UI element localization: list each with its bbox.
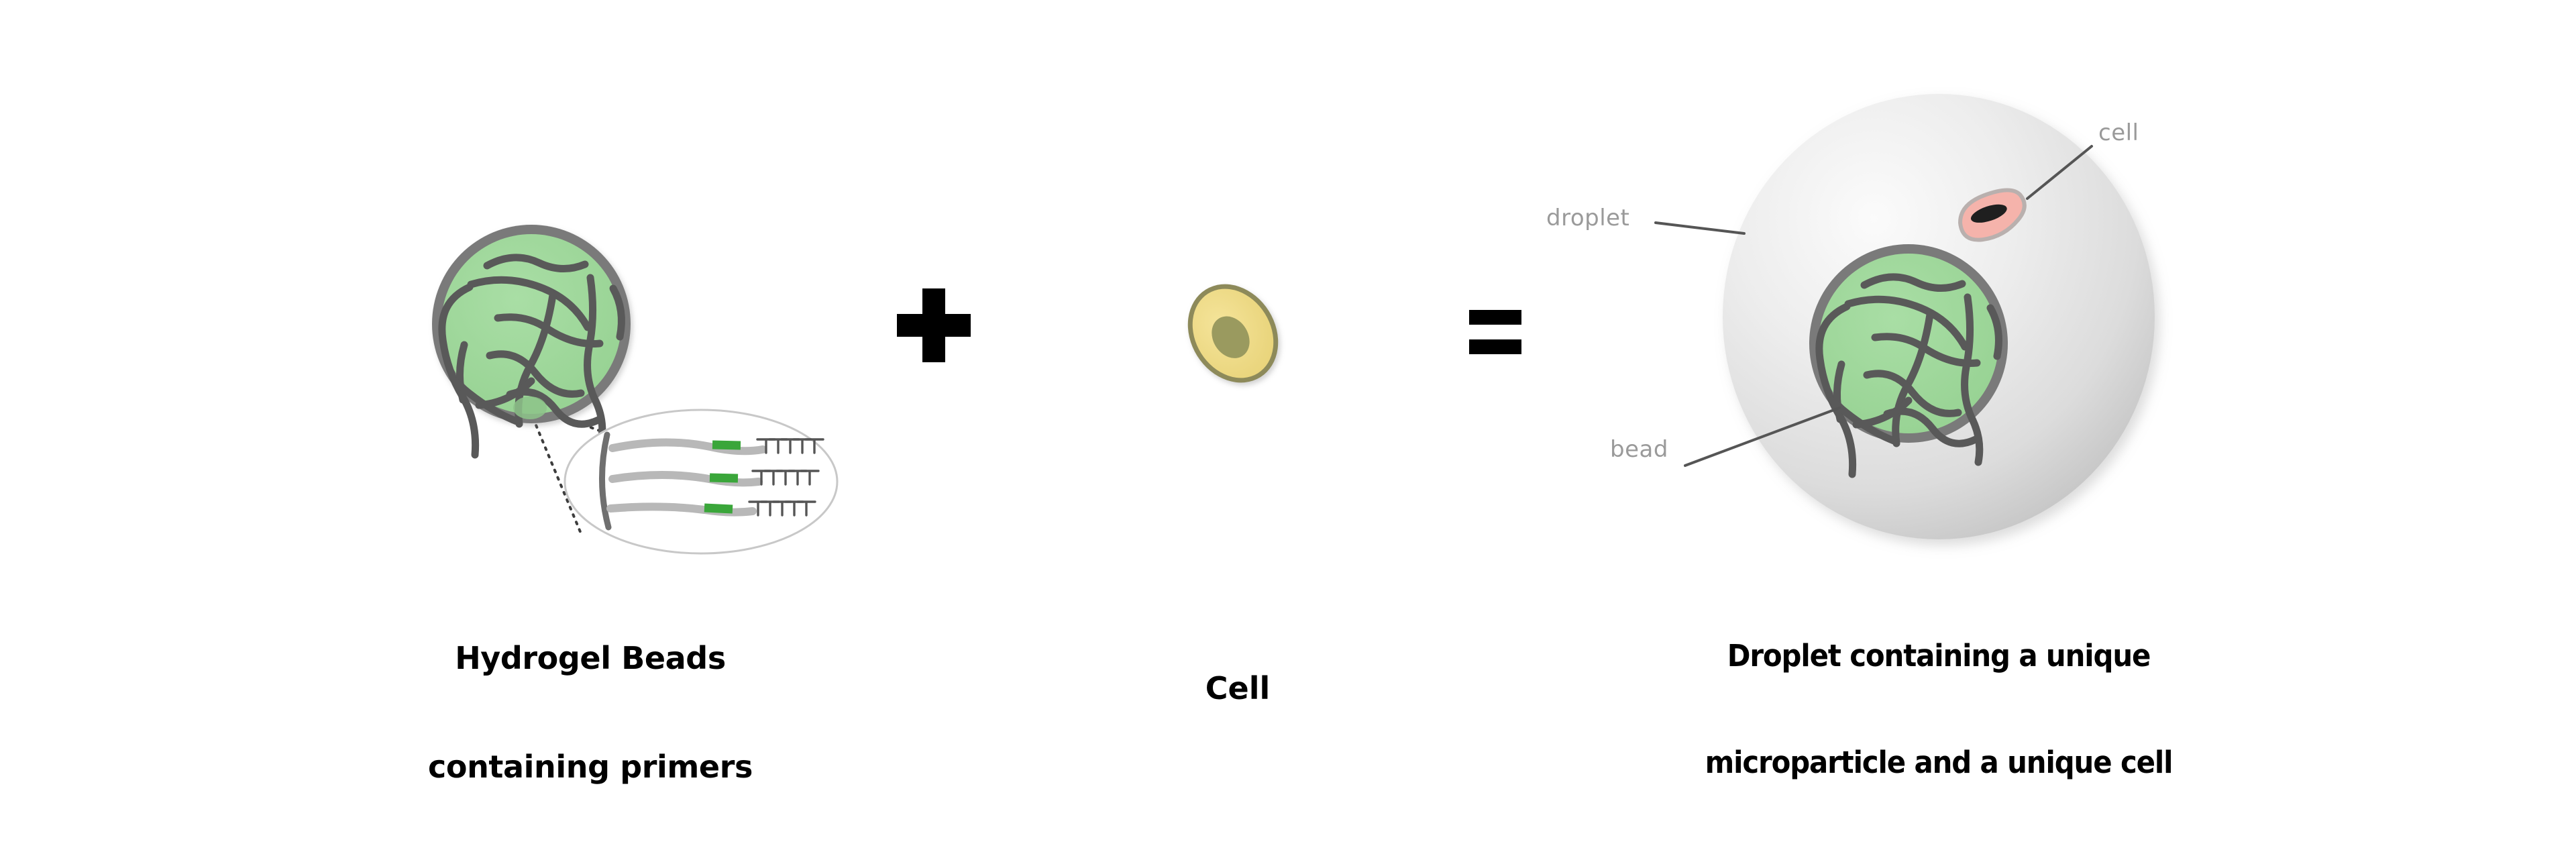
- caption-line: microparticle and a unique cell: [1621, 745, 2257, 780]
- equals-bottom-bar: [1469, 339, 1521, 354]
- poly-t-tail: [757, 439, 823, 453]
- caption-line: Cell: [1070, 670, 1405, 706]
- plus-vertical-bar: [922, 288, 945, 362]
- primer-callout: [565, 410, 837, 553]
- caption-line: containing primers: [309, 749, 872, 785]
- poly-t-tail: [753, 471, 818, 484]
- caption-line: Droplet containing a unique: [1621, 638, 2257, 674]
- callout-origin-spot: [513, 396, 547, 419]
- caption-droplet: Droplet containing a unique microparticl…: [1621, 567, 2257, 852]
- caption-hydrogel-beads: Hydrogel Beads containing primers: [309, 567, 872, 858]
- plus-operator: [897, 288, 971, 362]
- label-bead: bead: [1610, 436, 1668, 463]
- caption-cell: Cell: [1070, 597, 1405, 779]
- label-droplet: droplet: [1546, 205, 1629, 231]
- poly-t-tail: [749, 502, 815, 515]
- figure-canvas: droplet bead cell Hydrogel Beads contain…: [0, 0, 2576, 725]
- hydrogel-bead-graphic: [432, 225, 837, 553]
- equals-top-bar: [1469, 310, 1521, 325]
- droplet-graphic: [1656, 94, 2155, 539]
- leader-line-droplet: [1656, 223, 1744, 233]
- single-cell-graphic: [1170, 267, 1296, 399]
- equals-operator: [1469, 310, 1521, 354]
- caption-line: Hydrogel Beads: [309, 640, 872, 676]
- label-cell: cell: [2098, 119, 2139, 146]
